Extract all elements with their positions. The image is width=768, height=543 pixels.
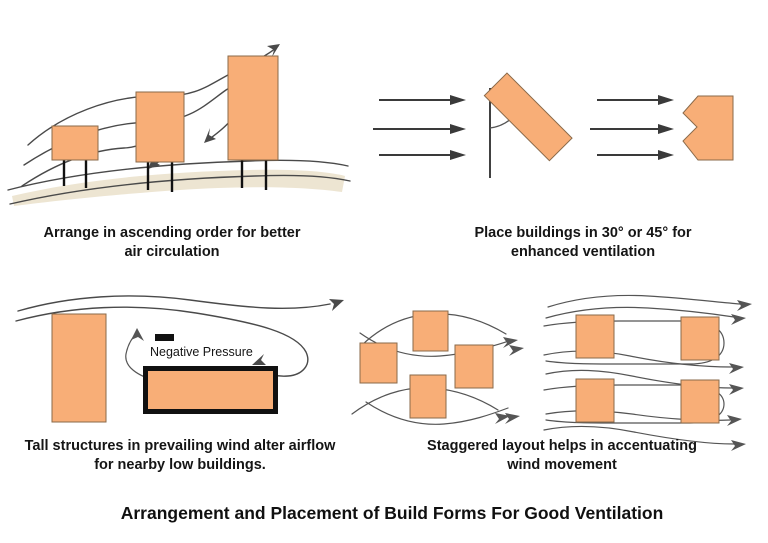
- caption-staggered-line1: Staggered layout helps in accentuating: [427, 438, 697, 454]
- caption-ascending-line1: Arrange in ascending order for better: [43, 225, 300, 241]
- building-tall: [228, 56, 278, 160]
- negative-pressure-label: Negative Pressure: [150, 345, 253, 359]
- low-building-top-edge: [143, 366, 278, 371]
- figure-title: Arrangement and Placement of Build Forms…: [121, 503, 664, 523]
- negative-pressure-marker: [155, 334, 174, 341]
- ventilation-diagram: Arrange in ascending order for better ai…: [0, 0, 768, 543]
- building-tall-wake: [52, 314, 106, 422]
- caption-wake-line1: Tall structures in prevailing wind alter…: [25, 438, 336, 454]
- stagger-block-right: [455, 345, 493, 388]
- caption-wake-line2: for nearby low buildings.: [94, 457, 266, 473]
- low-building-left-edge: [143, 366, 148, 414]
- low-building-right-edge: [273, 366, 278, 414]
- stagger-block-top: [413, 311, 448, 351]
- building-small: [52, 126, 98, 160]
- aligned-block-r1-c2: [681, 317, 719, 360]
- aligned-block-r2-c1: [576, 379, 614, 422]
- caption-angled-line1: Place buildings in 30° or 45° for: [474, 225, 691, 241]
- building-low-wake: [145, 370, 276, 410]
- caption-angled-line2: enhanced ventilation: [511, 244, 655, 260]
- stagger-block-left: [360, 343, 397, 383]
- diagram-canvas: Arrange in ascending order for better ai…: [0, 0, 768, 543]
- aligned-block-r2-c2: [681, 380, 719, 423]
- aligned-block-r1-c1: [576, 315, 614, 358]
- stagger-block-bottom: [410, 375, 446, 418]
- low-building-bottom-edge: [143, 409, 278, 414]
- caption-staggered-line2: wind movement: [506, 457, 617, 473]
- caption-ascending-line2: air circulation: [124, 244, 219, 260]
- building-medium: [136, 92, 184, 162]
